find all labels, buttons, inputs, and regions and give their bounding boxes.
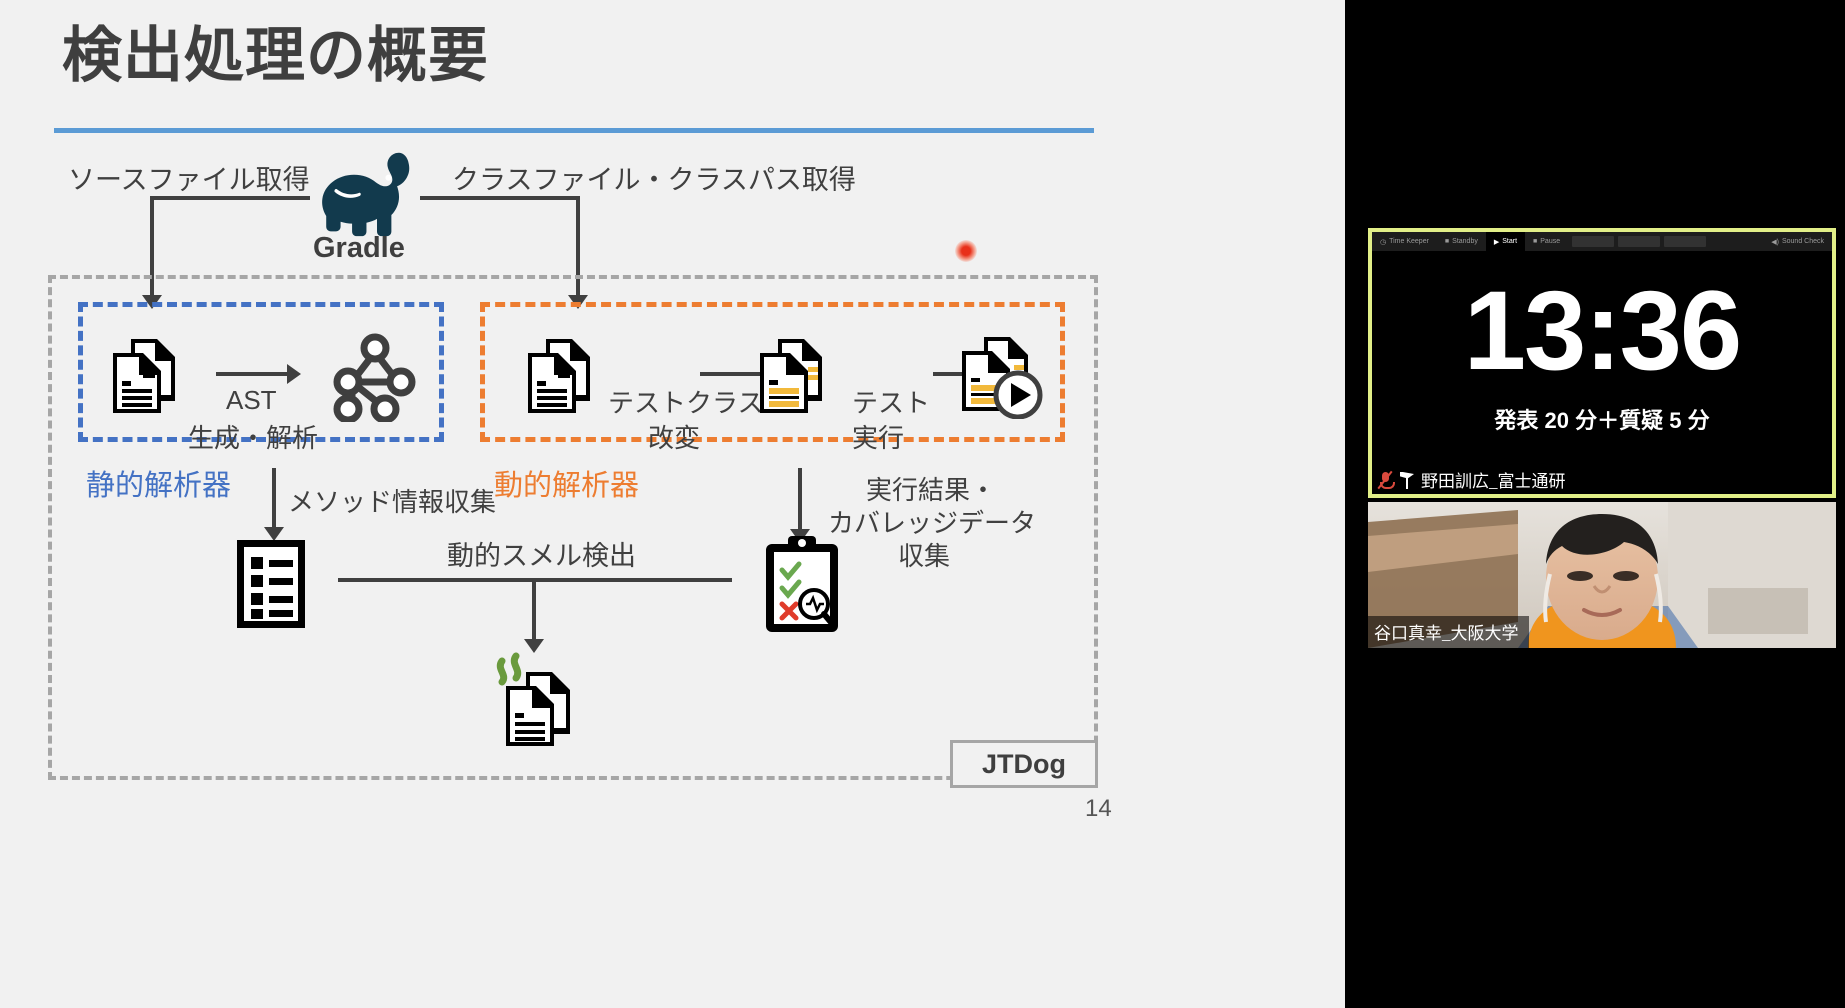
microphone-muted-icon (1378, 471, 1393, 489)
jtdog-label-tag: JTDog (950, 740, 1098, 788)
toolbar-blank-slot-3[interactable] (1664, 236, 1706, 247)
standby-label: Standby (1452, 238, 1478, 245)
toolbar-blank-slot-2[interactable] (1618, 236, 1660, 247)
label-test-class-modify: 改変 (648, 418, 700, 455)
label-method-info-collect: メソッド情報収集 (288, 482, 496, 519)
arrow-smell-output (532, 578, 536, 640)
label-ast-generate-analyze: 生成・解析 (188, 418, 318, 455)
start-label: Start (1502, 238, 1517, 245)
label-test-execute: 実行 (852, 418, 904, 455)
label-class-file-classpath-fetch: クラスファイル・クラスパス取得 (452, 158, 856, 197)
method-list-icon (235, 538, 307, 635)
timekeeper-app-name-item: ◷ Time Keeper (1372, 232, 1437, 251)
arrow-method-info (272, 468, 276, 528)
timer-clock-value: 13:36 (1372, 275, 1832, 387)
timekeeper-app-name: Time Keeper (1389, 238, 1429, 245)
pause-square-icon: ■ (1533, 238, 1537, 245)
toolbar-blank-slot-1[interactable] (1572, 236, 1614, 247)
arrow-coverage-collect (798, 468, 802, 530)
source-documents-icon (105, 337, 183, 420)
sound-check-button[interactable]: ◀) Sound Check (1763, 232, 1832, 251)
label-coverage-data: カバレッジデータ (828, 503, 1036, 540)
timekeeper-toolbar[interactable]: ◷ Time Keeper ■ Standby ▶ Start ■ Pause (1372, 232, 1832, 251)
modified-test-documents-icon (752, 337, 830, 420)
clock-icon: ◷ (1380, 238, 1386, 246)
label-collect: 収集 (898, 536, 950, 573)
label-gradle: Gradle (313, 232, 405, 265)
title-underline-rule (54, 128, 1094, 133)
pause-label: Pause (1540, 238, 1560, 245)
play-triangle-icon: ▶ (1494, 238, 1499, 246)
camera-participant-name: 谷口真幸_大阪大学 (1368, 616, 1529, 648)
ast-tree-icon (330, 330, 420, 427)
page-title: 検出処理の概要 (62, 20, 489, 92)
label-static-analyzer: 静的解析器 (86, 462, 231, 504)
pin-icon (1400, 471, 1414, 489)
standby-button[interactable]: ■ Standby (1437, 232, 1486, 251)
test-report-clipboard-icon (764, 534, 840, 639)
slide-page-number: 14 (1085, 795, 1112, 823)
label-exec-result: 実行結果・ (866, 470, 996, 507)
participant-video-column: ◷ Time Keeper ■ Standby ▶ Start ■ Pause (1345, 0, 1845, 1008)
connector-source-horizontal (152, 196, 310, 200)
timekeeper-participant-name: 野田訓広_富士通研 (1421, 467, 1566, 492)
label-dynamic-smell-detect: 動的スメル検出 (447, 534, 636, 573)
label-ast: AST (226, 385, 277, 416)
label-test: テスト (852, 383, 930, 420)
gradle-elephant-icon (308, 148, 423, 238)
label-source-file-fetch: ソースファイル取得 (68, 158, 310, 197)
video-tile-camera[interactable]: 谷口真幸_大阪大学 (1368, 502, 1836, 648)
arrow-ast (216, 372, 288, 376)
presentation-slide: 検出処理の概要 ソースファイル取得 クラスファイル・クラスパス取得 Gradle (0, 0, 1345, 1008)
start-button[interactable]: ▶ Start (1486, 232, 1525, 251)
timer-session-format: 発表 20 分＋質疑 5 分 (1372, 403, 1832, 435)
video-tile-timekeeper[interactable]: ◷ Time Keeper ■ Standby ▶ Start ■ Pause (1368, 228, 1836, 498)
laser-pointer-dot (955, 240, 977, 262)
sound-check-label: Sound Check (1782, 238, 1824, 245)
timekeeper-participant-name-overlay: 野田訓広_富士通研 (1378, 467, 1566, 492)
label-test-class: テストクラス (608, 383, 763, 420)
stop-square-icon: ■ (1445, 238, 1449, 245)
smell-report-icon (480, 640, 584, 755)
screen-share-view: 検出処理の概要 ソースファイル取得 クラスファイル・クラスパス取得 Gradle (0, 0, 1845, 1008)
pause-button[interactable]: ■ Pause (1525, 232, 1568, 251)
test-documents-icon (520, 337, 598, 420)
test-execution-icon (958, 335, 1044, 424)
connector-class-horizontal (420, 196, 580, 200)
label-dynamic-analyzer: 動的解析器 (494, 462, 639, 504)
speaker-icon: ◀) (1771, 238, 1779, 246)
timekeeper-display: 13:36 発表 20 分＋質疑 5 分 (1372, 251, 1832, 494)
